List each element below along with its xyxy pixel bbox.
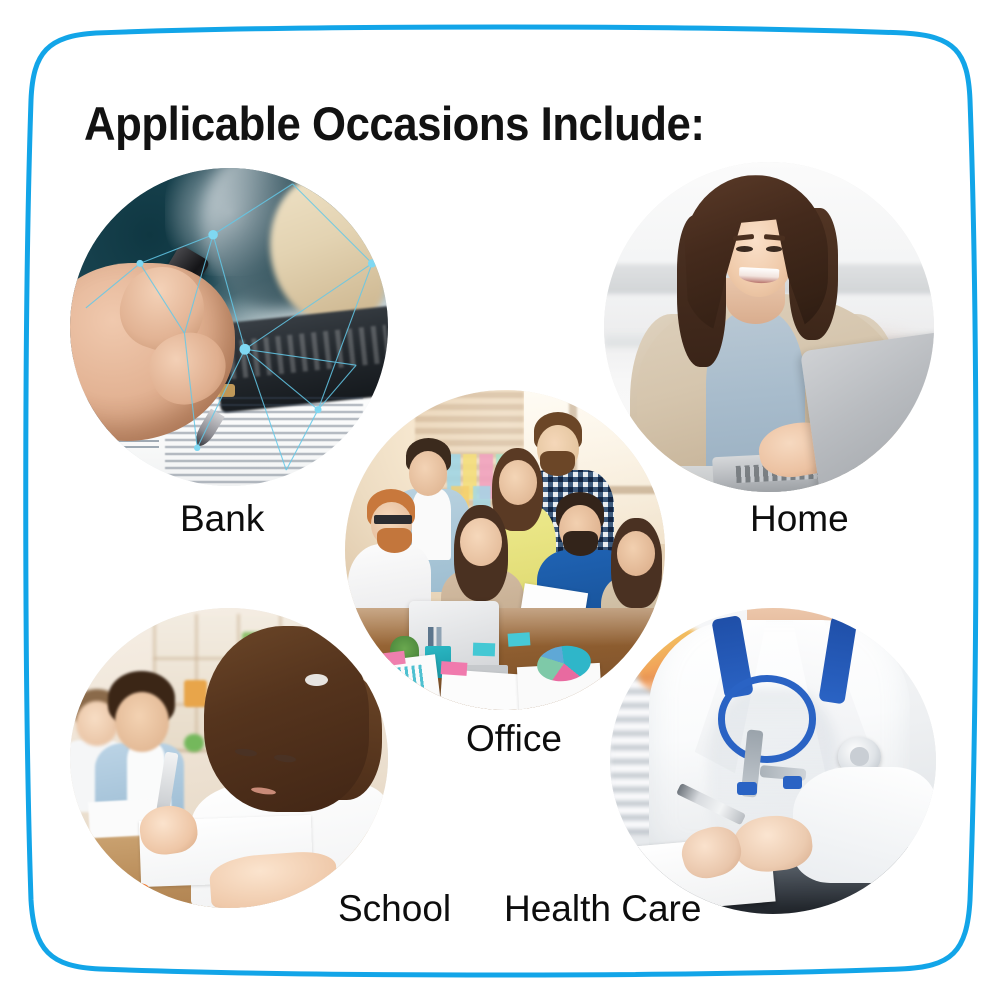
health-stethoscope-diaphragm: [850, 747, 870, 765]
occasion-label-school: School: [338, 888, 451, 930]
occasion-photo-school: [70, 608, 388, 908]
school-boy-head: [115, 692, 169, 752]
school-toy-orange: [184, 680, 206, 707]
home-laptop-screen: [800, 330, 934, 489]
home-smile: [739, 267, 779, 284]
office-person-center-head: [460, 518, 502, 566]
health-coat-sleeve: [793, 767, 936, 883]
home-eye-left: [736, 246, 753, 252]
health-stethoscope-connector-right: [783, 776, 803, 788]
office-sticky-note-teal: [473, 642, 496, 656]
occasion-label-health-care: Health Care: [504, 888, 701, 930]
office-sticky-note-pink: [441, 661, 467, 676]
office-person-right-head: [617, 531, 655, 576]
page-title: Applicable Occasions Include:: [84, 96, 704, 151]
school-hair-tie: [305, 674, 327, 686]
office-person-standing-left-head: [409, 451, 447, 496]
health-stethoscope-connector-left: [737, 782, 757, 794]
bank-network-overlay: [70, 168, 388, 486]
occasion-photo-bank: [70, 168, 388, 486]
health-stethoscope-loop: [718, 675, 817, 762]
office-sticky-note-teal-2: [508, 632, 531, 646]
office-person-yellow-head: [499, 460, 537, 505]
promo-graphic: Applicable Occasions Include:: [0, 0, 1000, 1000]
occasion-photo-health-care: [610, 608, 936, 914]
school-toy-green-2: [184, 734, 203, 752]
office-glasses-icon: [374, 515, 412, 525]
occasion-label-office: Office: [466, 718, 562, 760]
occasion-label-bank: Bank: [180, 498, 264, 540]
school-girl-hair: [204, 626, 369, 812]
occasion-label-home: Home: [750, 498, 849, 540]
